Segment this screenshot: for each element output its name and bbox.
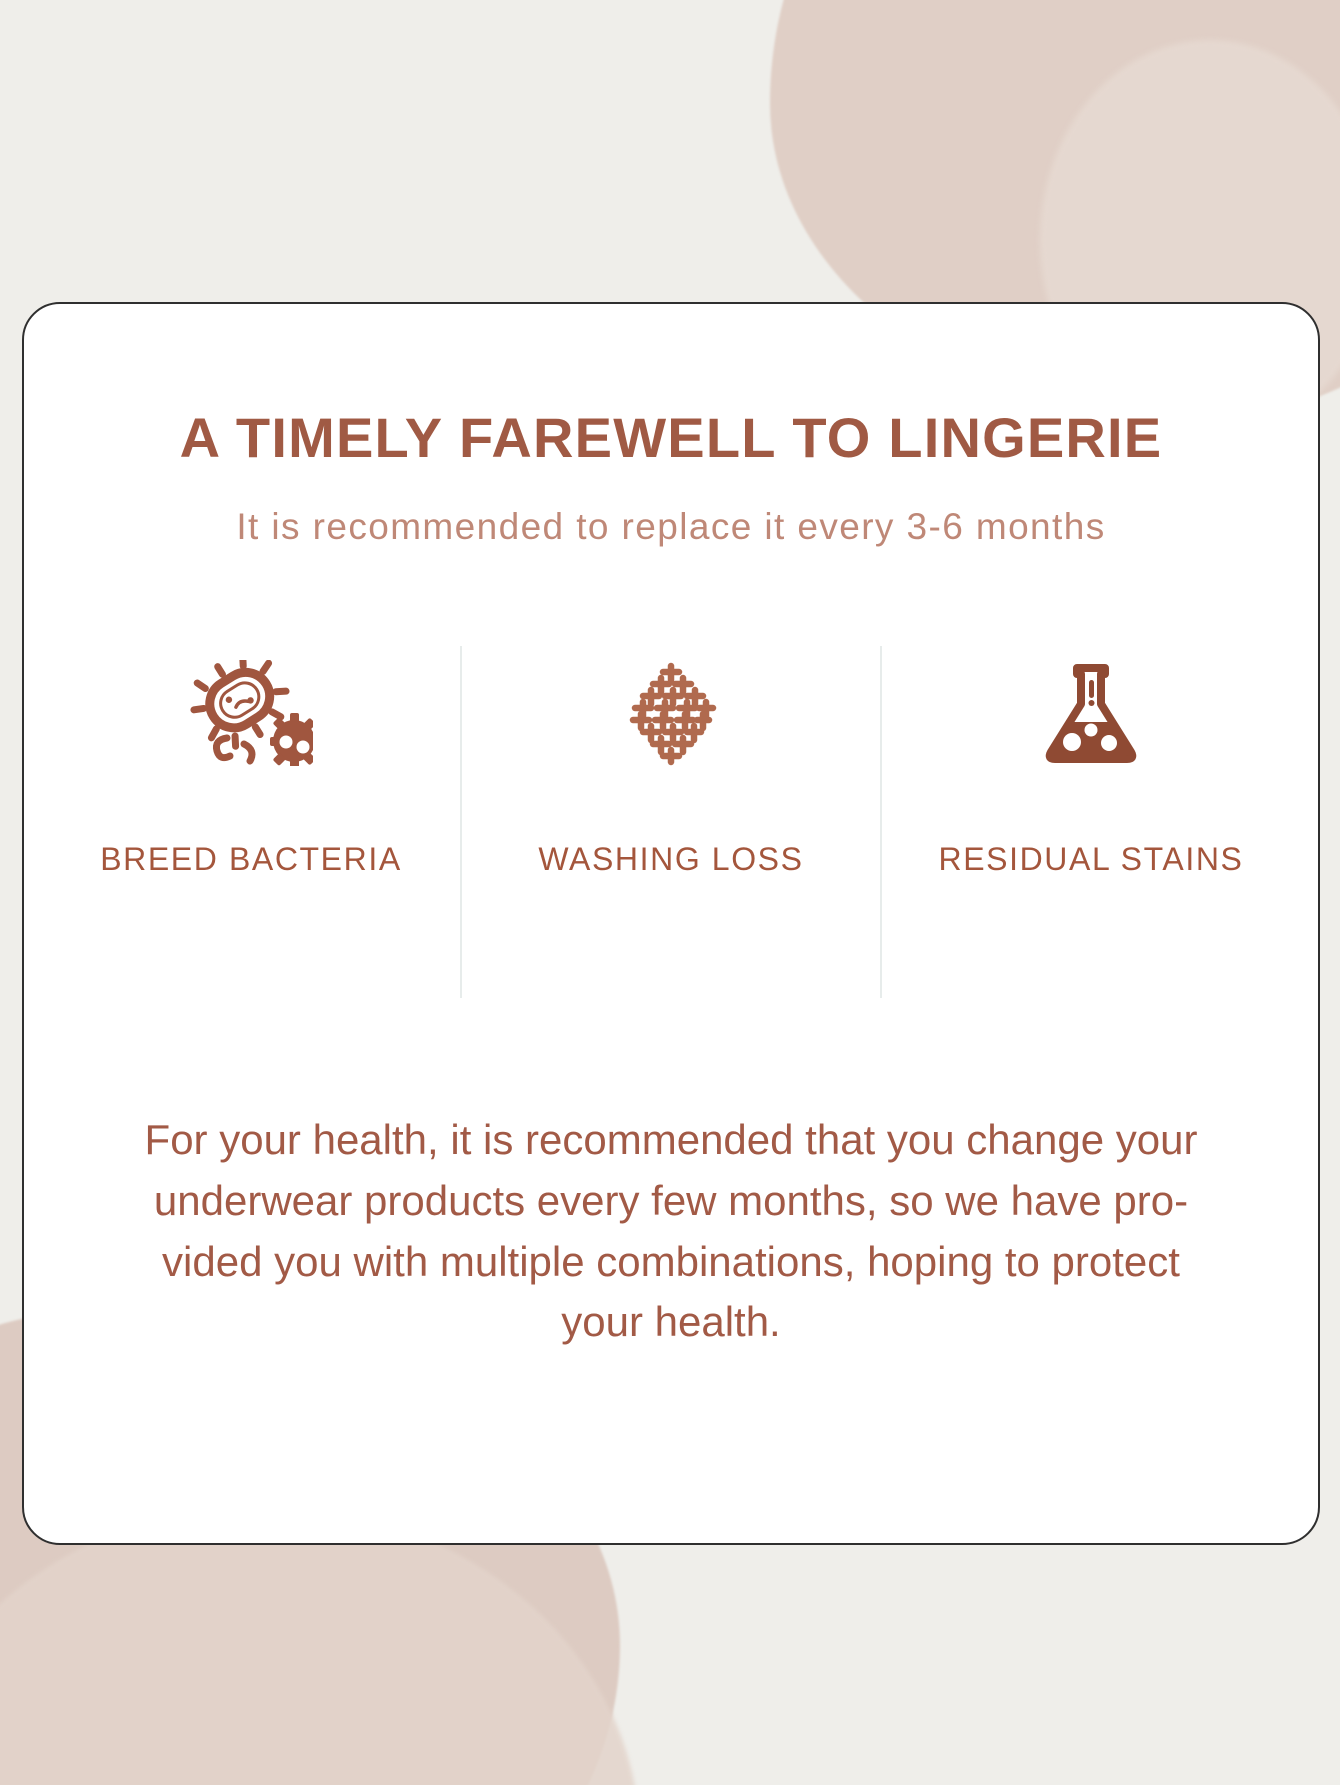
feature-item-washing-loss: WASHING LOSS (460, 646, 880, 998)
paragraph-line: your health. (89, 1292, 1254, 1353)
feature-label: RESIDUAL STAINS (939, 841, 1244, 878)
feature-item-breed-bacteria: BREED BACTERIA (42, 646, 460, 998)
feature-list: BREED BACTERIA (42, 646, 1300, 998)
page-subtitle: It is recommended to replace it every 3-… (236, 506, 1105, 548)
paragraph-line: underwear products every few months, so … (89, 1171, 1254, 1232)
woven-fabric-icon (619, 658, 723, 768)
paragraph-line: For your health, it is recommended that … (89, 1110, 1254, 1171)
paragraph-line: vided you with multiple combinations, ho… (89, 1232, 1254, 1293)
body-paragraph: For your health, it is recommended that … (89, 1110, 1254, 1354)
page-title: A TIMELY FAREWELL TO LINGERIE (180, 409, 1163, 468)
flask-icon (1039, 658, 1143, 768)
feature-item-residual-stains: RESIDUAL STAINS (880, 646, 1300, 998)
feature-label: BREED BACTERIA (100, 841, 402, 878)
feature-label: WASHING LOSS (538, 841, 803, 878)
bacteria-icon (189, 658, 313, 768)
info-card: A TIMELY FAREWELL TO LINGERIE It is reco… (22, 302, 1320, 1545)
